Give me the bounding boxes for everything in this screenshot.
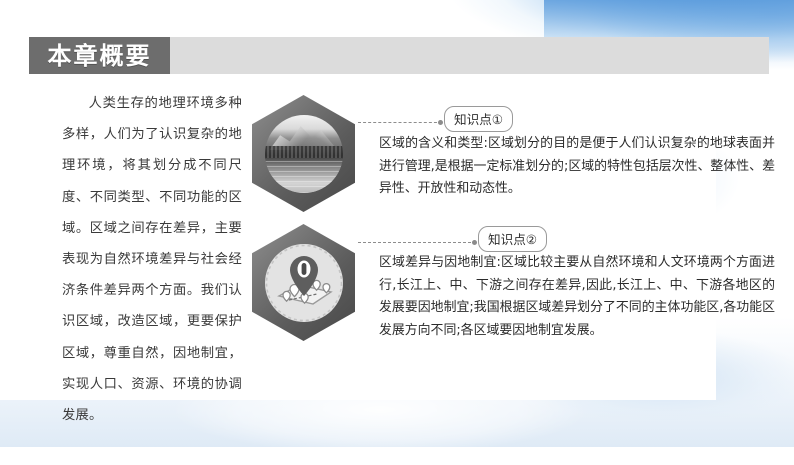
- landscape-photo-icon: [265, 115, 343, 193]
- photo-forest-layer: [265, 146, 343, 158]
- intro-paragraph: 人类生存的地理环境多种多样，人们为了认识复杂的地理环境，将其划分成不同尺度、不同…: [62, 88, 242, 431]
- knowledge-point-2-body: 区域差异与因地制宜:区域比较主要从自然环境和人文环境两个方面进行,长江上、中、下…: [379, 252, 775, 342]
- knowledge-point-1-tag: 知识点①: [444, 106, 513, 132]
- header-title-tab: 本章概要: [29, 37, 170, 74]
- page-title: 本章概要: [48, 44, 152, 68]
- knowledge-point-1-body: 区域的含义和类型:区域划分的目的是便于人们认识复杂的地球表面并进行管理,是根据一…: [379, 133, 775, 201]
- section-header: 本章概要: [29, 37, 769, 74]
- map-pin-svg: [265, 244, 343, 322]
- intro-text: 人类生存的地理环境多种多样，人们为了认识复杂的地理环境，将其划分成不同尺度、不同…: [62, 88, 242, 431]
- connector-dot-kp2: [472, 240, 477, 245]
- connector-line-kp2: [358, 242, 476, 243]
- connector-dot-kp1: [438, 120, 443, 125]
- map-pin-icon: [265, 244, 343, 322]
- knowledge-point-2-tag: 知识点②: [478, 226, 547, 252]
- photo-ripple-layer: [265, 161, 343, 189]
- connector-line-kp1: [358, 122, 442, 123]
